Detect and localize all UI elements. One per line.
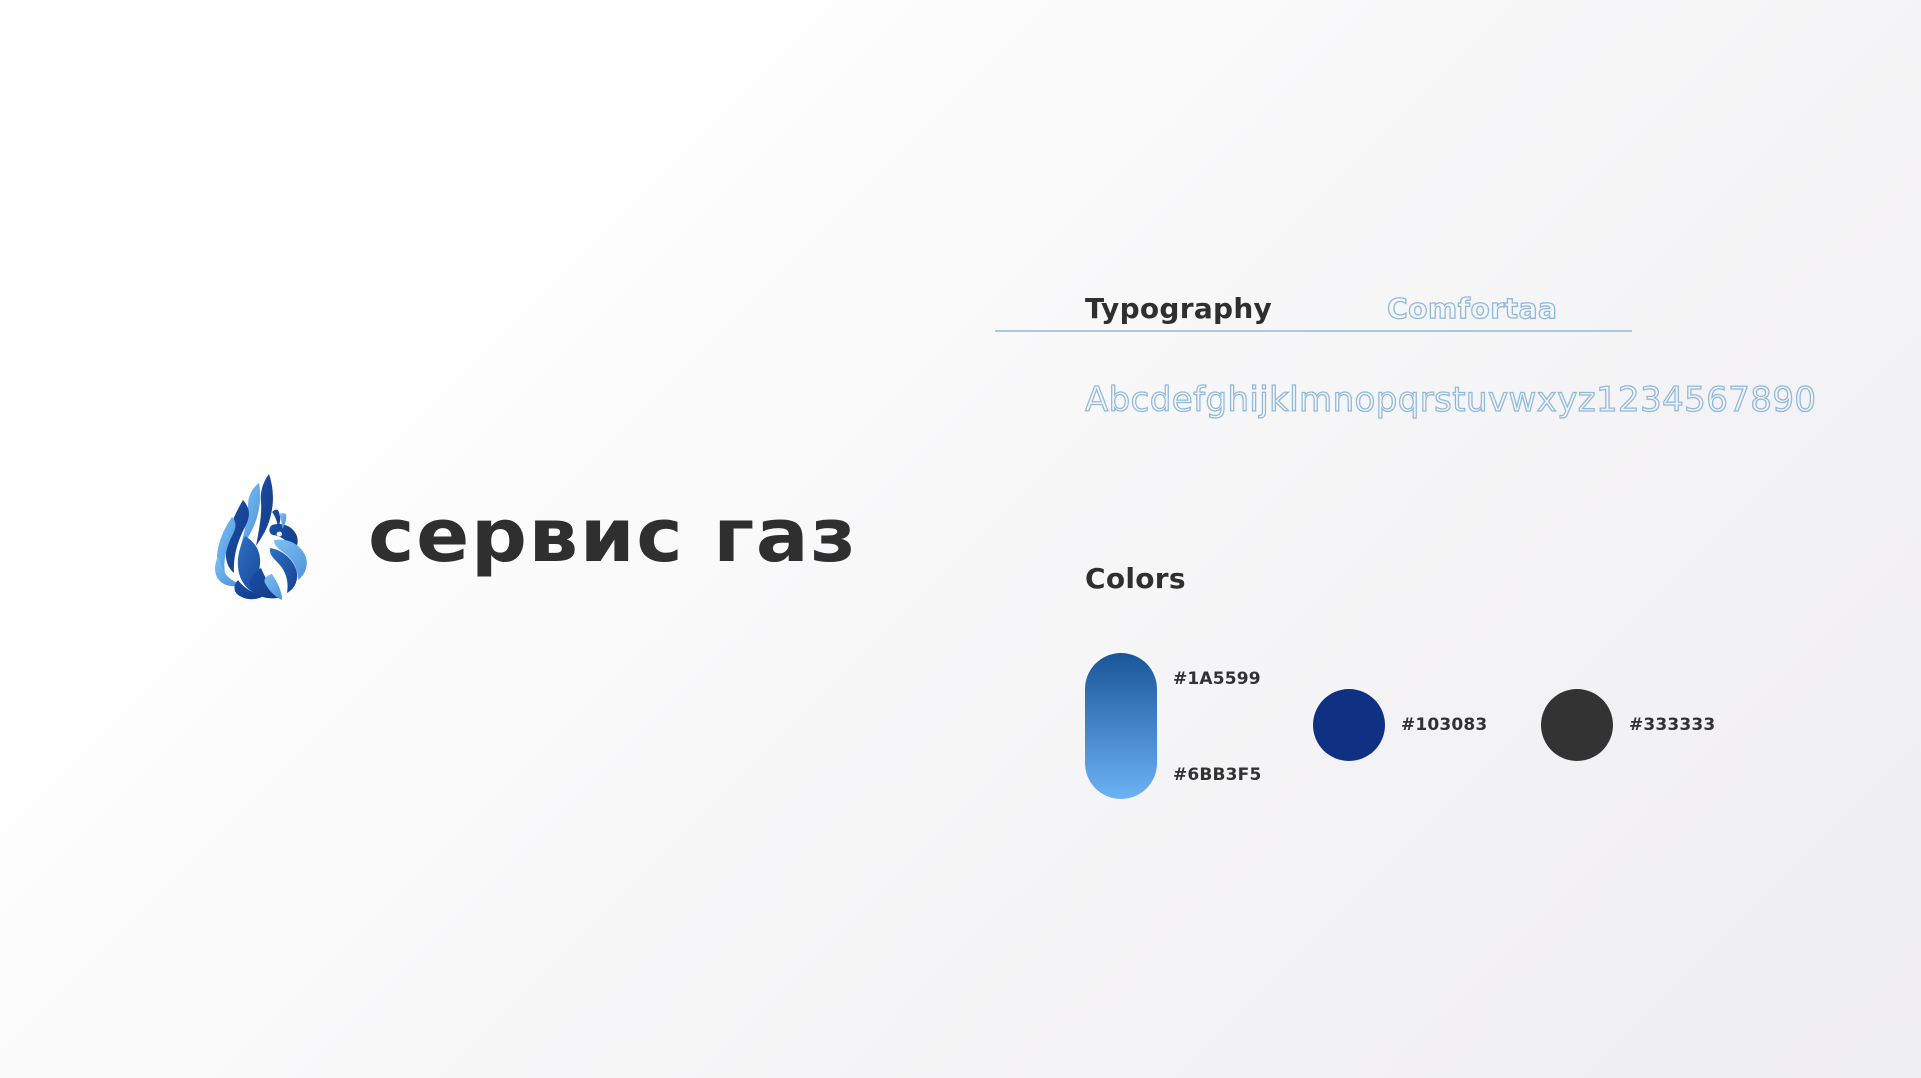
hex-label-gradient-end: #6BB3F5	[1173, 767, 1261, 784]
hex-label-gradient-start: #1A5599	[1173, 671, 1261, 688]
color-swatch-primary-gradient: #1A5599 #6BB3F5	[1085, 653, 1303, 799]
color-swatch-charcoal: #333333	[1541, 689, 1715, 761]
typography-font-name: Comfortaa	[1387, 295, 1557, 323]
style-guide-panel: Typography Comfortaa Abcdefghijklmnopqrs…	[1085, 0, 1865, 1078]
typography-section-title: Typography	[1085, 295, 1272, 323]
color-swatch-row: #1A5599 #6BB3F5 #103083 #333333	[1085, 653, 1845, 813]
hex-label-deep-blue: #103083	[1401, 717, 1487, 734]
hex-label-charcoal: #333333	[1629, 717, 1715, 734]
colors-section-title: Colors	[1085, 565, 1845, 593]
typography-specimen: Abcdefghijklmnopqrstuvwxyz1234567890	[1085, 383, 1816, 417]
gradient-pill-labels: #1A5599 #6BB3F5	[1173, 653, 1303, 799]
typography-divider	[995, 330, 1632, 332]
typography-section: Typography Comfortaa	[1085, 295, 1785, 323]
deep-blue-circle-shape	[1313, 689, 1385, 761]
gradient-pill-shape	[1085, 653, 1157, 799]
brand-wordmark: сервис газ	[368, 499, 857, 573]
typography-header-row: Typography Comfortaa	[1085, 295, 1785, 323]
colors-section: Colors #1A5599 #6BB3F5 #103083 #333333	[1085, 565, 1845, 813]
logo-lockup: сервис газ	[212, 470, 830, 602]
charcoal-circle-shape	[1541, 689, 1613, 761]
phoenix-bird-logo-icon	[212, 470, 316, 602]
color-swatch-deep-blue: #103083	[1313, 689, 1487, 761]
